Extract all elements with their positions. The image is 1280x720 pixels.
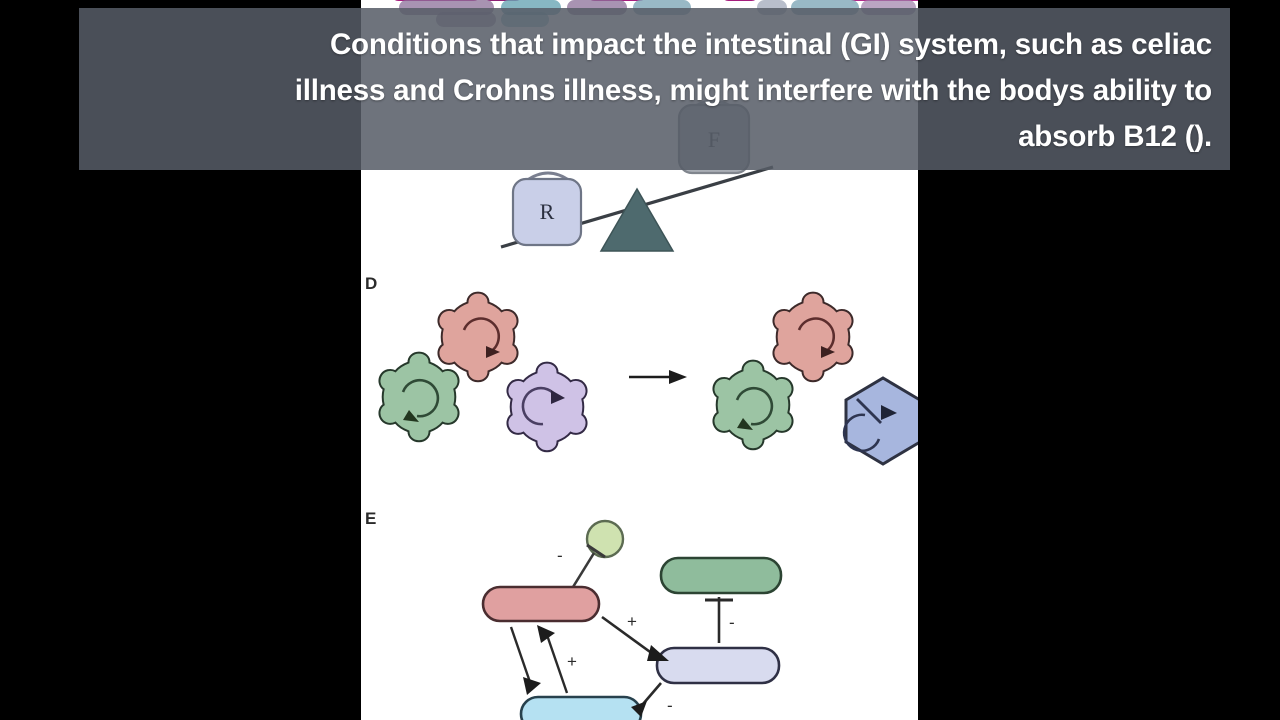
hexagon-blocked	[844, 378, 918, 464]
edge-label-minus-1: -	[557, 546, 563, 565]
caption-overlay: Conditions that impact the intestinal (G…	[79, 8, 1230, 170]
screenshot-root: R F D	[0, 0, 1280, 720]
gear-green-left	[379, 353, 458, 442]
node-pill-red	[483, 587, 599, 621]
edge-blue-to-red	[547, 635, 567, 693]
network-diagram: - + - + -	[361, 505, 918, 720]
edge-red-to-circle	[573, 553, 594, 587]
transition-arrow-right	[629, 370, 687, 384]
gear-red-right	[773, 293, 852, 382]
node-pill-lavender	[657, 648, 779, 683]
edge-label-plus-1: +	[627, 612, 637, 631]
gear-purple-left	[507, 363, 586, 452]
edge-label-minus-2: -	[729, 613, 735, 632]
gears-diagram	[361, 278, 918, 493]
node-pill-blue	[521, 697, 641, 720]
edge-red-to-blue	[511, 627, 531, 685]
node-circle-green	[587, 521, 623, 557]
bar-magenta-4	[721, 0, 759, 1]
gear-green-right	[713, 361, 792, 450]
edge-label-minus-3: -	[667, 696, 673, 715]
edge-blue-to-red-arrowhead	[537, 625, 555, 643]
caption-text: Conditions that impact the intestinal (G…	[97, 22, 1212, 160]
edge-label-plus-2: +	[567, 652, 577, 671]
edge-red-to-blue-arrowhead	[523, 677, 541, 695]
gear-red-left	[438, 293, 517, 382]
weight-r: R	[513, 173, 581, 245]
node-pill-green	[661, 558, 781, 593]
weight-r-label: R	[540, 199, 555, 224]
